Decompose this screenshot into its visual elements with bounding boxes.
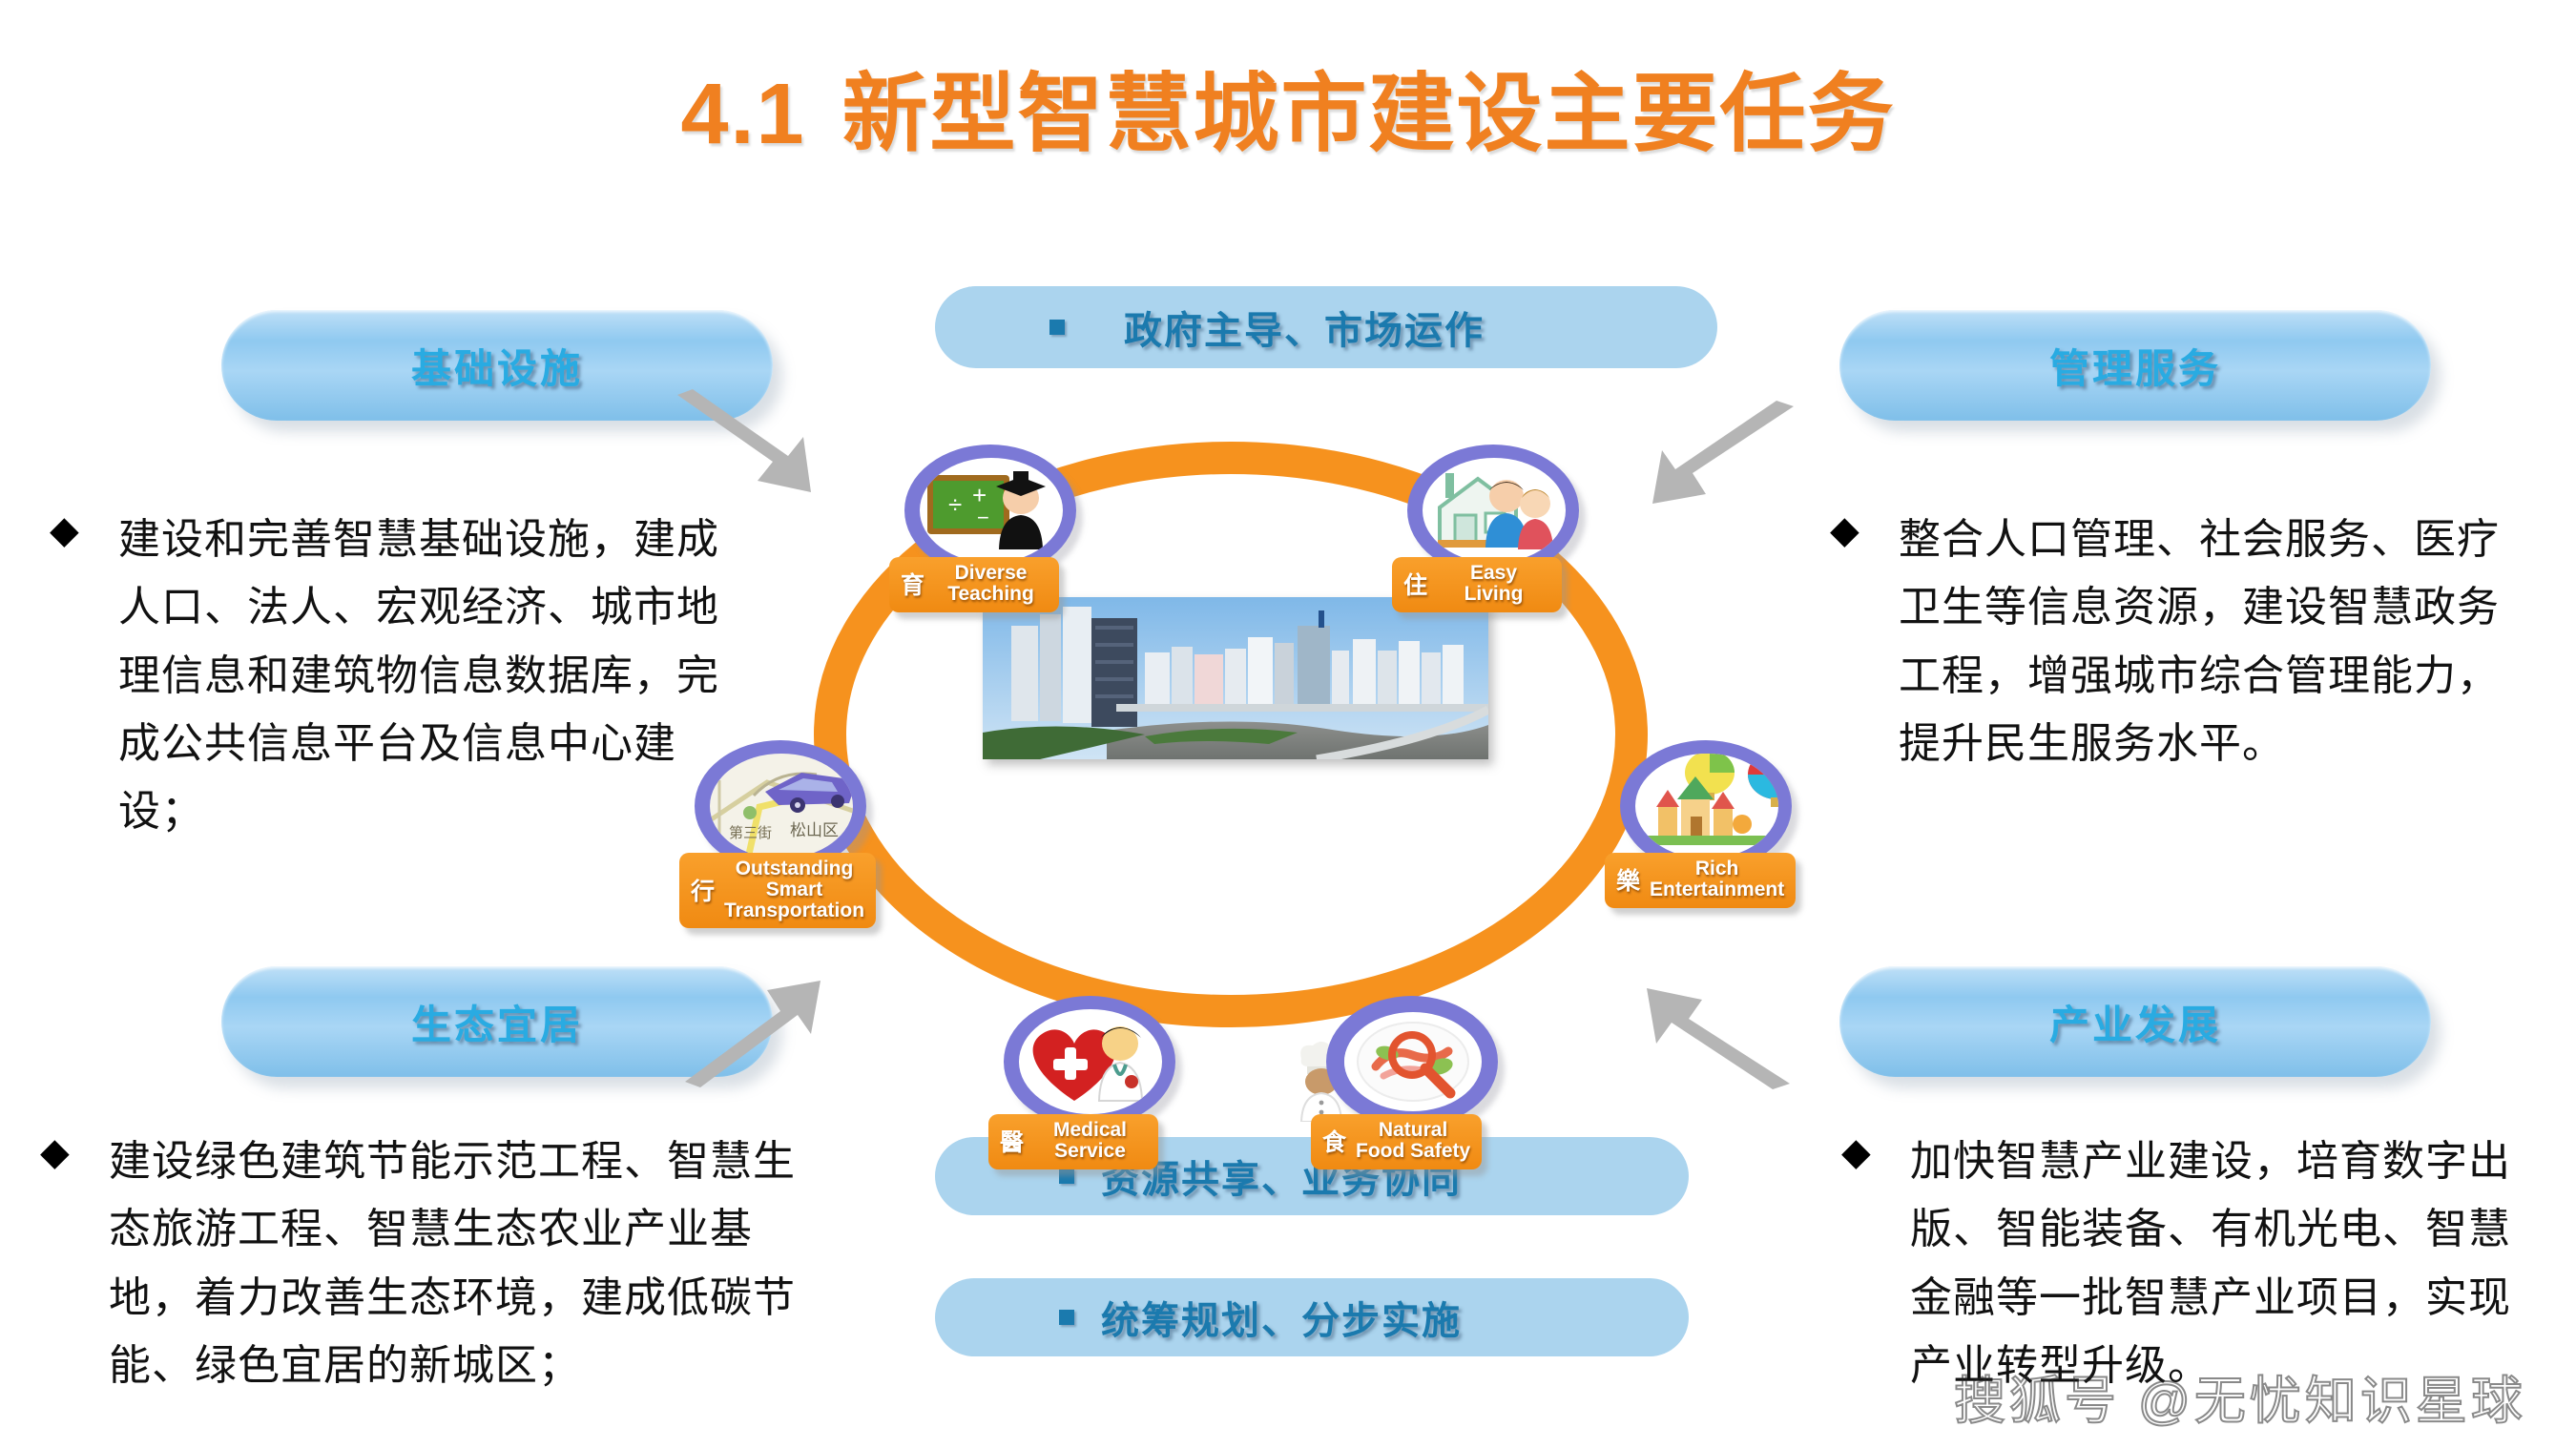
arrow-bottom-right [1647,988,1790,1089]
text-block-content: 整合人口管理、社会服务、医疗卫生等信息资源，建设智慧政务工程，增强城市综合管理能… [1899,506,2526,777]
text-block-management: ◆ 整合人口管理、社会服务、医疗卫生等信息资源，建设智慧政务工程，增强城市综合管… [1830,506,2526,777]
pill-management-service[interactable]: 管理服务 [1839,310,2431,421]
text-block-content: 建设绿色建筑节能示范工程、智慧生态旅游工程、智慧生态农业产业基地，着力改善生态环… [109,1127,832,1399]
diamond-bullet-icon: ◆ [40,1133,71,1171]
diamond-bullet-icon: ◆ [50,511,80,549]
text-block-content: 建设和完善智慧基础设施，建成人口、法人、宏观经济、城市地理信息和建筑物信息数据库… [118,506,737,845]
text-block-infrastructure: ◆ 建设和完善智慧基础设施，建成人口、法人、宏观经济、城市地理信息和建筑物信息数… [50,506,737,845]
title-number: 4.1 [680,67,805,162]
node-tag: 食 Natural Food Safety [1311,1114,1482,1169]
text-block-eco: ◆ 建设绿色建筑节能示范工程、智慧生态旅游工程、智慧生态农业产业基地，着力改善生… [40,1127,832,1399]
title-text: 新型智慧城市建设主要任务 [842,67,1896,162]
arrow-bottom-left [685,981,821,1087]
square-bullet-icon [1059,1310,1074,1325]
banner-label: 政府主导、市场运作 [1124,300,1485,355]
banner-overall-planning[interactable]: 统筹规划、分步实施 [935,1278,1689,1356]
square-bullet-icon [1049,320,1065,335]
node-cn-label: 醫 [1000,1124,1024,1158]
pill-label: 基础设施 [411,337,583,395]
slide-root: 4.1新型智慧城市建设主要任务 基础设施 管理服务 生态宜居 产业发展 政府主导… [0,0,2576,1448]
pill-label: 生态宜居 [411,993,583,1051]
pill-label: 产业发展 [2049,993,2221,1051]
diamond-bullet-icon: ◆ [1841,1133,1872,1171]
connector-arrows [658,382,1927,1107]
node-en-label: Medical Service [1033,1120,1147,1162]
banner-label: 统筹规划、分步实施 [1101,1290,1462,1345]
node-cn-label: 食 [1322,1124,1346,1158]
pill-label: 管理服务 [2049,337,2221,395]
node-en-label: Natural Food Safety [1356,1120,1470,1162]
node-tag: 醫 Medical Service [988,1114,1158,1169]
pill-industry-development[interactable]: 产业发展 [1839,966,2431,1077]
banner-gov-led[interactable]: 政府主导、市场运作 [935,286,1717,368]
watermark: 搜狐号 @无忧知识星球 [1954,1358,2526,1434]
arrow-top-right [1652,401,1794,504]
page-title: 4.1新型智慧城市建设主要任务 [0,44,2576,168]
arrow-top-left [677,389,811,492]
